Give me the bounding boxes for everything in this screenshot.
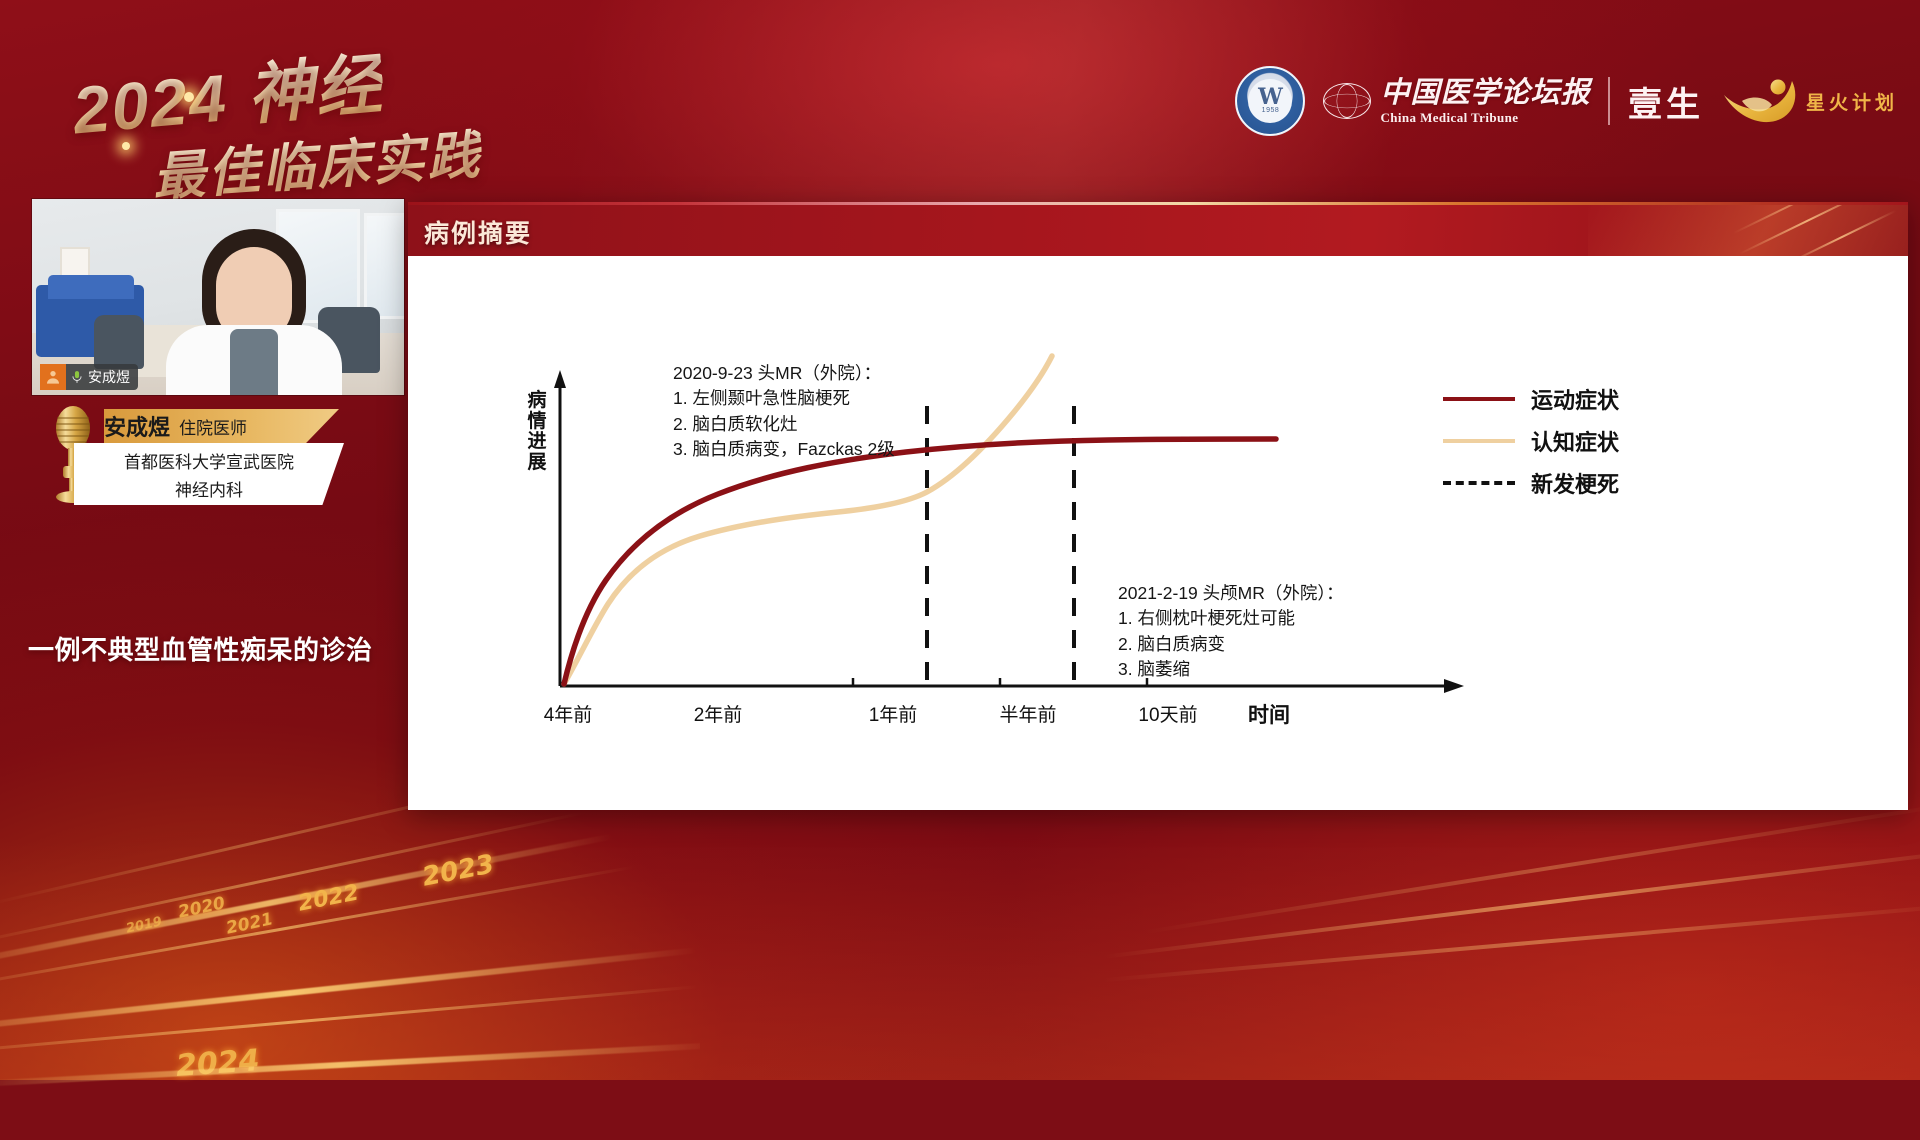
legend-item-motor: 运动症状 xyxy=(1443,378,1743,420)
xinghuo-label: 星火计划 xyxy=(1806,88,1898,115)
tribune-name-cn: 中国医学论坛报 xyxy=(1380,78,1590,107)
speaker-org-line1: 首都医科大学宣武医院 xyxy=(124,448,294,473)
video-participant-name: 安成煜 xyxy=(88,367,130,387)
legend-label: 认知症状 xyxy=(1531,425,1619,457)
decorative-sweep-right xyxy=(1100,780,1920,1140)
legend-swatch-cognitive xyxy=(1443,439,1515,443)
decor-year-2019: 2019 xyxy=(125,914,164,936)
china-medical-tribune-logo: 中国医学论坛报 China Medical Tribune xyxy=(1323,78,1590,124)
annotation-mr-2020: 2020-9-23 头MR（外院）： 1. 左侧颞叶急性脑梗死 2. 脑白质软化… xyxy=(673,361,895,463)
yisheng-logo: 壹生 xyxy=(1628,77,1704,126)
legend-item-new-infarct: 新发梗死 xyxy=(1443,462,1743,504)
x-tick-label: 1年前 xyxy=(869,700,918,727)
slide-title: 病例摘要 xyxy=(424,214,532,250)
speaker-org-box: 首都医科大学宣武医院 神经内科 xyxy=(74,443,344,505)
annotation-line: 2020-9-23 头MR（外院）： xyxy=(673,361,895,386)
presentation-slide: 病例摘要 xyxy=(408,202,1908,810)
tribune-name-en: China Medical Tribune xyxy=(1380,111,1518,124)
sparkle-icon xyxy=(122,142,130,150)
annotation-mr-2021: 2021-2-19 头颅MR（外院）： 1. 右侧枕叶梗死灶可能 2. 脑白质病… xyxy=(1118,581,1344,683)
chart-legend: 运动症状 认知症状 新发梗死 xyxy=(1443,378,1743,504)
decor-year-2024: 2024 xyxy=(175,1043,261,1084)
legend-item-cognitive: 认知症状 xyxy=(1443,420,1743,462)
legend-label: 运动症状 xyxy=(1531,383,1619,415)
x-tick-label: 2年前 xyxy=(694,700,743,727)
annotation-line: 3. 脑白质病变，Fazckas 2级 xyxy=(673,437,895,462)
speaker-org-line2: 神经内科 xyxy=(175,476,243,501)
talk-title: 一例不典型血管性痴呆的诊治 xyxy=(28,630,408,667)
x-tick-label: 4年前 xyxy=(544,700,593,727)
speaker-role: 住院医师 xyxy=(179,414,247,439)
xinghuo-plan-logo: 星火计划 xyxy=(1722,75,1898,127)
annotation-line: 2. 脑白质病变 xyxy=(1118,632,1344,657)
slide-header: 病例摘要 xyxy=(408,202,1908,256)
video-name-tag: 安成煜 xyxy=(40,364,138,390)
annotation-line: 1. 左侧颞叶急性脑梗死 xyxy=(673,386,895,411)
chart-x-axis-label: 时间 xyxy=(1248,699,1290,729)
legend-swatch-new-infarct xyxy=(1443,481,1515,485)
progression-timeline-chart: 病情进展 时间 4年前 2年前 1年前 半年前 10天前 2020-9-23 头… xyxy=(408,256,1908,810)
video-window xyxy=(364,213,404,319)
event-title: 2024 神经 最佳临床实践 xyxy=(44,40,514,190)
annotation-line: 1. 右侧枕叶梗死灶可能 xyxy=(1118,606,1344,631)
x-tick-label: 10天前 xyxy=(1138,700,1197,727)
video-speaker-figure xyxy=(172,229,336,395)
flying-figure-icon xyxy=(1722,75,1800,127)
person-icon xyxy=(40,364,66,390)
microphone-icon xyxy=(70,369,84,385)
sparkle-icon xyxy=(184,92,194,102)
annotation-line: 2021-2-19 头颅MR（外院）： xyxy=(1118,581,1344,606)
annotation-line: 3. 脑萎缩 xyxy=(1118,657,1344,682)
xuanwu-hospital-seal-icon: W 1958 xyxy=(1235,66,1305,136)
video-sofa-back xyxy=(48,275,134,299)
slide-body: 病情进展 时间 4年前 2年前 1年前 半年前 10天前 2020-9-23 头… xyxy=(408,256,1908,810)
x-tick-label: 半年前 xyxy=(999,700,1056,727)
logo-divider xyxy=(1608,77,1610,125)
decor-year-2023: 2023 xyxy=(420,849,497,892)
decor-year-2022: 2022 xyxy=(296,880,361,916)
logo-bar: W 1958 中国医学论坛报 China Medical Tribune 壹生 xyxy=(1235,66,1898,136)
video-chair xyxy=(94,315,144,369)
speaker-name-row: 安成煜 住院医师 xyxy=(104,411,344,441)
legend-label: 新发梗死 xyxy=(1531,467,1619,499)
globe-icon xyxy=(1323,83,1371,119)
annotation-line: 2. 脑白质软化灶 xyxy=(673,412,895,437)
slide-header-accent xyxy=(408,202,1908,205)
speaker-video-panel[interactable]: 安成煜 xyxy=(32,199,404,395)
chart-y-axis-label: 病情进展 xyxy=(526,391,548,473)
speaker-name: 安成煜 xyxy=(104,410,170,442)
legend-swatch-motor xyxy=(1443,397,1515,401)
